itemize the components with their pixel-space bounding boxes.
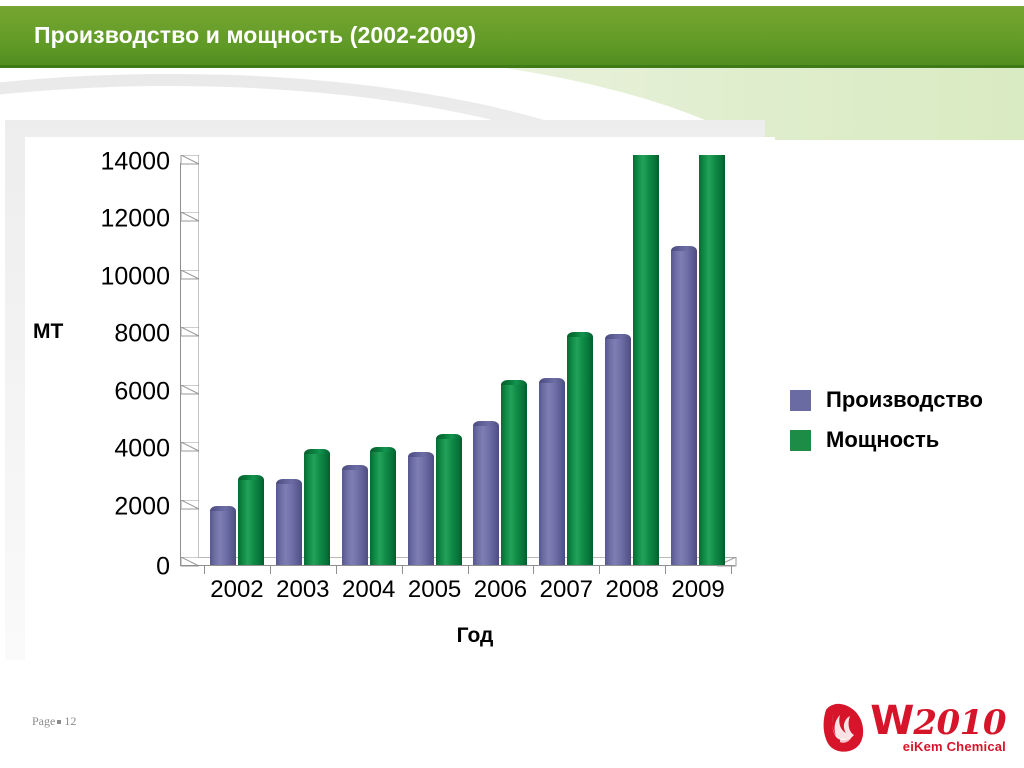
x-axis-tick: [665, 566, 666, 574]
x-axis-tick: [270, 566, 271, 574]
bar-body: [699, 155, 725, 565]
x-axis-tick-label: 2003: [276, 576, 329, 604]
bar-производство-2004: [342, 465, 368, 566]
x-axis-tick-label: 2009: [671, 576, 724, 604]
bar-body: [342, 470, 368, 566]
x-axis-tick: [468, 566, 469, 574]
bar-body: [539, 383, 565, 565]
y-axis-tick-label: 8000: [114, 320, 170, 349]
bar-мощность-2008: [633, 155, 659, 565]
bar-производство-2002: [210, 506, 236, 565]
bar-body: [473, 426, 499, 565]
y-axis-tick-label: 2000: [114, 492, 170, 521]
y-axis-tick-label: 6000: [114, 377, 170, 406]
x-axis-tick: [402, 566, 403, 574]
chart-panel: MT 02000400060008000100001200014000 2002…: [25, 137, 775, 677]
x-axis-tick: [533, 566, 534, 574]
legend-swatch: [790, 390, 811, 411]
bar-body: [436, 439, 462, 565]
bar-мощность-2007: [567, 332, 593, 565]
bar-body: [501, 385, 527, 565]
chart-legend: ПроизводствоМощность: [790, 387, 983, 467]
x-axis-tick-labels: 20022003200420052006200720082009: [180, 574, 735, 608]
plot-area: 02000400060008000100001200014000: [180, 155, 735, 565]
bar-group: [180, 155, 735, 565]
bar-мощность-2005: [436, 434, 462, 565]
page-label: Page: [32, 714, 55, 728]
y-axis-tick-label: 4000: [114, 435, 170, 464]
flame-seal-icon: [820, 702, 866, 754]
page-number: Page12: [32, 714, 76, 729]
bar-производство-2009: [671, 246, 697, 565]
y-axis-tick-label: 10000: [100, 262, 170, 291]
legend-swatch: [790, 430, 811, 451]
logo-letter-w: W: [870, 703, 913, 739]
bar-мощность-2006: [501, 380, 527, 565]
legend-item: Мощность: [790, 427, 983, 453]
x-axis-tick-label: 2007: [540, 576, 593, 604]
bar-body: [633, 155, 659, 565]
legend-item: Производство: [790, 387, 983, 413]
page-title: Производство и мощность (2002-2009): [34, 22, 476, 49]
bar-производство-2008: [605, 334, 631, 565]
slide: Производство и мощность (2002-2009) MT 0…: [0, 0, 1024, 768]
x-axis-tick-label: 2008: [605, 576, 658, 604]
bar-body: [304, 454, 330, 565]
logo-top-row: W 2010: [870, 703, 1006, 739]
x-axis-title: Год: [25, 624, 775, 648]
bar-производство-2005: [408, 452, 434, 565]
bullet-icon: [57, 720, 61, 724]
y-axis-tick-label: 14000: [100, 148, 170, 177]
bar-мощность-2002: [238, 475, 264, 565]
bar-body: [276, 484, 302, 565]
page-index: 12: [64, 714, 76, 728]
bar-мощность-2009: [699, 155, 725, 565]
logo-wordmark: W 2010 eiKem Chemical: [870, 703, 1006, 753]
logo-tagline: eiKem Chemical: [870, 740, 1006, 753]
bar-body: [605, 339, 631, 565]
bar-body: [210, 511, 236, 565]
legend-label: Производство: [826, 387, 983, 413]
y-axis-tick-label: 12000: [100, 205, 170, 234]
bar-body: [567, 337, 593, 565]
x-axis-tick: [336, 566, 337, 574]
bar-производство-2003: [276, 479, 302, 565]
floor-front-edge: [180, 565, 735, 566]
bar-body: [370, 452, 396, 565]
x-axis-tick: [731, 566, 732, 574]
company-logo: W 2010 eiKem Chemical: [820, 698, 1006, 758]
bar-body: [408, 457, 434, 565]
bar-мощность-2003: [304, 449, 330, 565]
x-axis-tick: [599, 566, 600, 574]
x-axis-tick-label: 2006: [474, 576, 527, 604]
x-axis-tick-label: 2004: [342, 576, 395, 604]
logo-year: 2010: [913, 708, 1006, 739]
bar-body: [671, 251, 697, 565]
y-axis-title: MT: [33, 320, 63, 344]
bar-body: [238, 480, 264, 565]
x-axis-tick-label: 2005: [408, 576, 461, 604]
y-axis-tick-label: 0: [156, 553, 170, 582]
x-axis-tick-label: 2002: [210, 576, 263, 604]
bar-производство-2007: [539, 378, 565, 565]
bar-производство-2006: [473, 421, 499, 565]
bar-мощность-2004: [370, 447, 396, 565]
legend-label: Мощность: [826, 427, 939, 453]
x-axis-tick: [204, 566, 205, 574]
